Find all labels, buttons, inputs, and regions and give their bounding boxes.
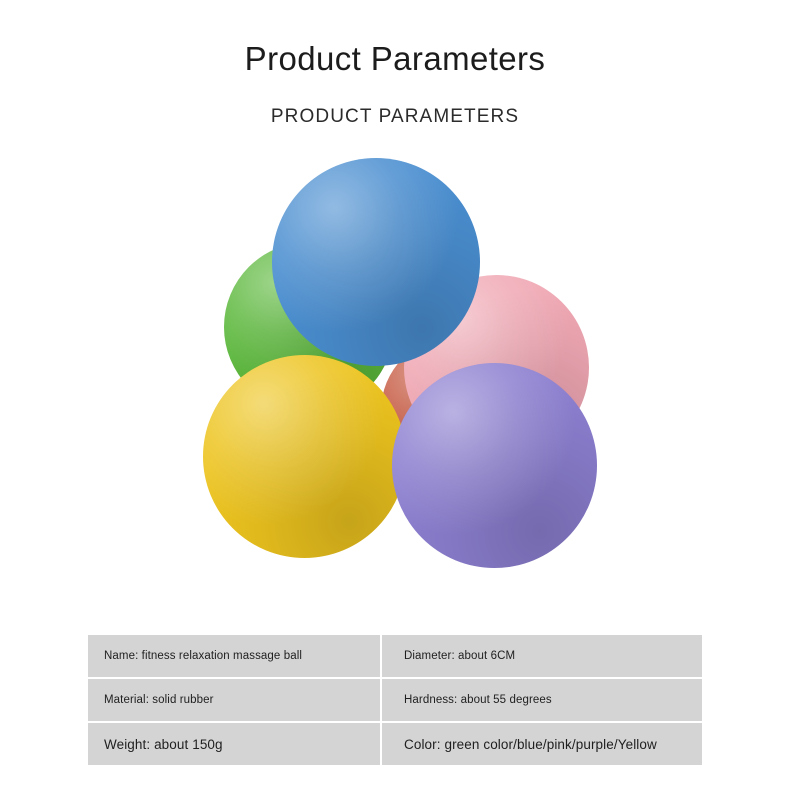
product-photo — [185, 150, 605, 580]
blue-ball — [272, 158, 480, 366]
param-diameter-cell: Diameter: about 6CM — [382, 635, 702, 677]
page-title: Product Parameters — [0, 39, 790, 79]
table-row: Material: solid rubber Hardness: about 5… — [88, 679, 702, 721]
page-subtitle: PRODUCT PARAMETERS — [0, 106, 790, 129]
param-hardness-cell: Hardness: about 55 degrees — [382, 679, 702, 721]
table-row: Weight: about 150g Color: green color/bl… — [88, 723, 702, 765]
parameters-table: Name: fitness relaxation massage ball Di… — [88, 635, 702, 765]
yellow-ball — [203, 355, 406, 558]
table-row: Name: fitness relaxation massage ball Di… — [88, 635, 702, 677]
param-color-cell: Color: green color/blue/pink/purple/Yell… — [382, 723, 702, 765]
param-weight-cell: Weight: about 150g — [88, 723, 380, 765]
purple-ball — [392, 363, 597, 568]
param-material-cell: Material: solid rubber — [88, 679, 380, 721]
param-name-cell: Name: fitness relaxation massage ball — [88, 635, 380, 677]
